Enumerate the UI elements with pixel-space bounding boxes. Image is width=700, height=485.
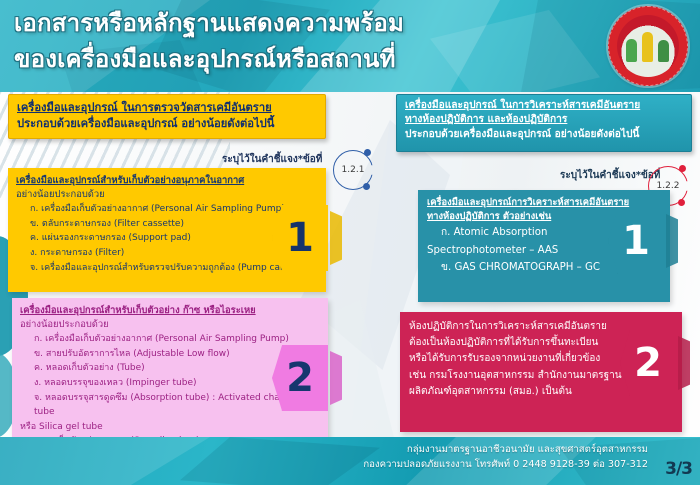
right-caption-line-3: ประกอบด้วยเครื่องมือและอุปกรณ์ อย่างน้อย…: [405, 128, 683, 142]
right-panel-2-badge-fold: [678, 336, 690, 390]
list-item-continued: หรือ Silica gel tube: [20, 420, 320, 435]
right-reference-note: ระบุไว้ในคำชี้แจง*ข้อที่: [560, 168, 660, 183]
left-panel-1-badge-fold: [330, 211, 342, 265]
right-panel-2-badge-number: 2: [620, 330, 676, 396]
slide-root: เอกสารหรือหลักฐานแสดงความพร้อม ของเครื่อ…: [0, 0, 700, 485]
page-title-line-1: เอกสารหรือหลักฐานแสดงความพร้อม: [14, 6, 574, 42]
left-panel-2-badge-number: 2: [272, 345, 328, 411]
left-caption-line-1: เครื่องมือและอุปกรณ์ ในการตรวจวัดสารเคมี…: [17, 100, 317, 116]
slide-footer: กลุ่มงานมาตรฐานอาชีวอนามัย และสุขศาสตร์อ…: [0, 437, 700, 485]
footer-facet-2: [180, 437, 380, 485]
page-title-line-2: ของเครื่องมือและอุปกรณ์หรือสถานที่: [14, 42, 574, 78]
page-title: เอกสารหรือหลักฐานแสดงความพร้อม ของเครื่อ…: [14, 6, 574, 77]
left-panel-1-subheading: อย่างน้อยประกอบด้วย: [16, 188, 318, 202]
left-caption-line-2: ประกอบด้วยเครื่องมือและอุปกรณ์ อย่างน้อย…: [17, 116, 317, 132]
right-panel-1-badge-number: 1: [608, 208, 664, 274]
left-caption-box: เครื่องมือและอุปกรณ์ ในการตรวจวัดสารเคมี…: [8, 94, 326, 139]
right-caption-box: เครื่องมือและอุปกรณ์ ในการวิเคราะห์สารเค…: [396, 94, 692, 152]
right-panel-2-badge: 2: [620, 330, 682, 396]
right-caption-line-1: เครื่องมือและอุปกรณ์ ในการวิเคราะห์สารเค…: [405, 99, 683, 113]
left-panel-2-heading: เครื่องมือและอุปกรณ์สำหรับเก็บตัวอย่าง ก…: [20, 304, 320, 318]
emblem-ring-text: [608, 6, 688, 86]
footer-contact: กลุ่มงานมาตรฐานอาชีวอนามัย และสุขศาสตร์อ…: [363, 443, 648, 473]
left-panel-1-badge: 1: [272, 205, 334, 271]
left-panel-2-subheading: อย่างน้อยประกอบด้วย: [20, 318, 320, 332]
left-panel-1-badge-number: 1: [272, 205, 328, 271]
right-panel-1-badge-fold: [666, 214, 678, 268]
left-panel-2-badge: 2: [272, 345, 334, 411]
footer-line-2: กองความปลอดภัยแรงงาน โทรศัพท์ 0 2448 912…: [363, 458, 648, 473]
right-caption-line-2: ทางห้องปฏิบัติการ และห้องปฏิบัติการ: [405, 113, 683, 127]
slide-header: เอกสารหรือหลักฐานแสดงความพร้อม ของเครื่อ…: [0, 0, 700, 92]
ministry-emblem-icon: [608, 6, 688, 86]
left-ring-label: 1.2.1: [333, 150, 373, 190]
left-panel-2-badge-fold: [330, 351, 342, 405]
right-panel-1-badge: 1: [608, 208, 670, 274]
left-panel-1-heading: เครื่องมือและอุปกรณ์สำหรับเก็บตัวอย่างอน…: [16, 174, 318, 188]
left-reference-note: ระบุไว้ในคำชี้แจง*ข้อที่: [222, 152, 322, 167]
footer-line-1: กลุ่มงานมาตรฐานอาชีวอนามัย และสุขศาสตร์อ…: [363, 443, 648, 458]
left-reference-ring: 1.2.1: [333, 150, 373, 190]
page-number: 3/3: [665, 459, 692, 479]
